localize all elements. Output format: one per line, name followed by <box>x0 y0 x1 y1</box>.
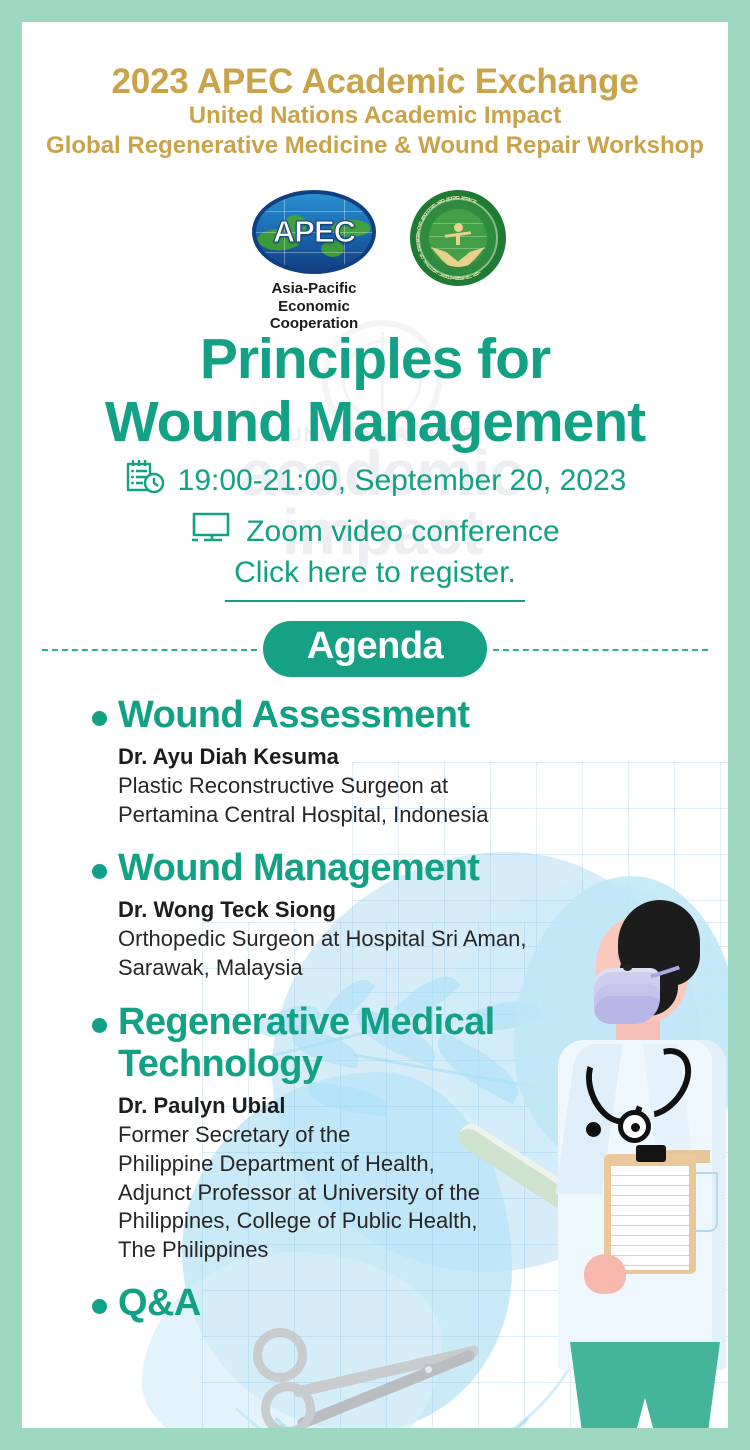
isrm-logo: THEINTERNATIONALSOCIETYOFREGENERATIVEMED… <box>410 190 506 286</box>
apec-globe-icon: APEC <box>252 190 376 274</box>
agenda-item-affiliation: Plastic Reconstructive Surgeon at Pertam… <box>118 772 692 829</box>
isrm-figure-head <box>454 223 463 232</box>
scissors-ring-lower <box>261 1382 315 1428</box>
apec-caption-line1: Asia-Pacific <box>244 280 384 298</box>
agenda-item-speaker: Dr. Paulyn Ubial <box>118 1092 692 1121</box>
agenda-list: Wound Assessment Dr. Ayu Diah Kesuma Pla… <box>92 694 692 1343</box>
register-link-text[interactable]: Click here to register. <box>234 556 516 590</box>
poster-canvas: UNITED NATIONS academic impact <box>22 22 728 1428</box>
bullet-icon <box>92 1018 107 1033</box>
event-platform-row: Zoom video conference <box>22 509 728 555</box>
agenda-item-heading: Q&A <box>92 1282 692 1325</box>
header-line-2: United Nations Academic Impact <box>22 101 728 131</box>
agenda-dash-left <box>42 649 257 651</box>
isrm-globe-icon <box>429 209 487 267</box>
agenda-item: Regenerative Medical Technology Dr. Paul… <box>92 1001 692 1265</box>
apec-caption: Asia-Pacific Economic Cooperation <box>244 280 384 333</box>
header-line-1: 2023 APEC Academic Exchange <box>22 64 728 101</box>
agenda-pill-label: Agenda <box>263 621 487 677</box>
agenda-item-heading: Regenerative Medical Technology <box>92 1001 692 1086</box>
isrm-figure-body <box>456 233 460 245</box>
agenda-item-topic: Wound Assessment <box>118 694 469 737</box>
agenda-item-topic: Regenerative Medical Technology <box>118 1001 692 1086</box>
agenda-item-heading: Wound Management <box>92 847 692 890</box>
event-platform-text: Zoom video conference <box>246 515 560 549</box>
globe-parallel <box>252 252 376 253</box>
agenda-item-heading: Wound Assessment <box>92 694 692 737</box>
scissors-pivot <box>423 1364 434 1375</box>
page-title: Principles for Wound Management <box>22 328 728 453</box>
agenda-dash-right <box>493 649 708 651</box>
poster-header: 2023 APEC Academic Exchange United Natio… <box>22 64 728 161</box>
calendar-clock-icon <box>124 457 166 505</box>
agenda-item-speaker: Dr. Wong Teck Siong <box>118 896 692 925</box>
agenda-item-topic: Q&A <box>118 1282 201 1325</box>
register-underline <box>225 600 525 602</box>
event-details: 19:00-21:00, September 20, 2023 Zoom vid… <box>22 457 728 602</box>
agenda-item: Q&A <box>92 1282 692 1325</box>
logo-row: APEC Asia-Pacific Economic Cooperation T… <box>22 190 728 333</box>
agenda-item-topic: Wound Management <box>118 847 479 890</box>
agenda-item-affiliation: Former Secretary of the Philippine Depar… <box>118 1121 692 1264</box>
page-title-line-1: Principles for <box>22 328 728 391</box>
bullet-icon <box>92 1299 107 1314</box>
doctor-scrub-pants <box>570 1342 720 1428</box>
bullet-icon <box>92 864 107 879</box>
register-link[interactable]: Click here to register. <box>22 556 728 590</box>
bullet-icon <box>92 711 107 726</box>
agenda-banner: Agenda <box>22 618 728 680</box>
agenda-item: Wound Management Dr. Wong Teck Siong Ort… <box>92 847 692 982</box>
apec-wordmark: APEC <box>273 214 355 250</box>
page-title-line-2: Wound Management <box>22 391 728 454</box>
apec-logo: APEC Asia-Pacific Economic Cooperation <box>244 190 384 333</box>
event-datetime-row: 19:00-21:00, September 20, 2023 <box>22 457 728 505</box>
agenda-item: Wound Assessment Dr. Ayu Diah Kesuma Pla… <box>92 694 692 829</box>
globe-parallel <box>252 211 376 212</box>
agenda-item-affiliation: Orthopedic Surgeon at Hospital Sri Aman,… <box>118 925 692 982</box>
agenda-item-speaker: Dr. Ayu Diah Kesuma <box>118 743 692 772</box>
header-line-3: Global Regenerative Medicine & Wound Rep… <box>22 131 728 161</box>
event-datetime-text: 19:00-21:00, September 20, 2023 <box>178 464 627 498</box>
monitor-icon <box>190 509 234 555</box>
